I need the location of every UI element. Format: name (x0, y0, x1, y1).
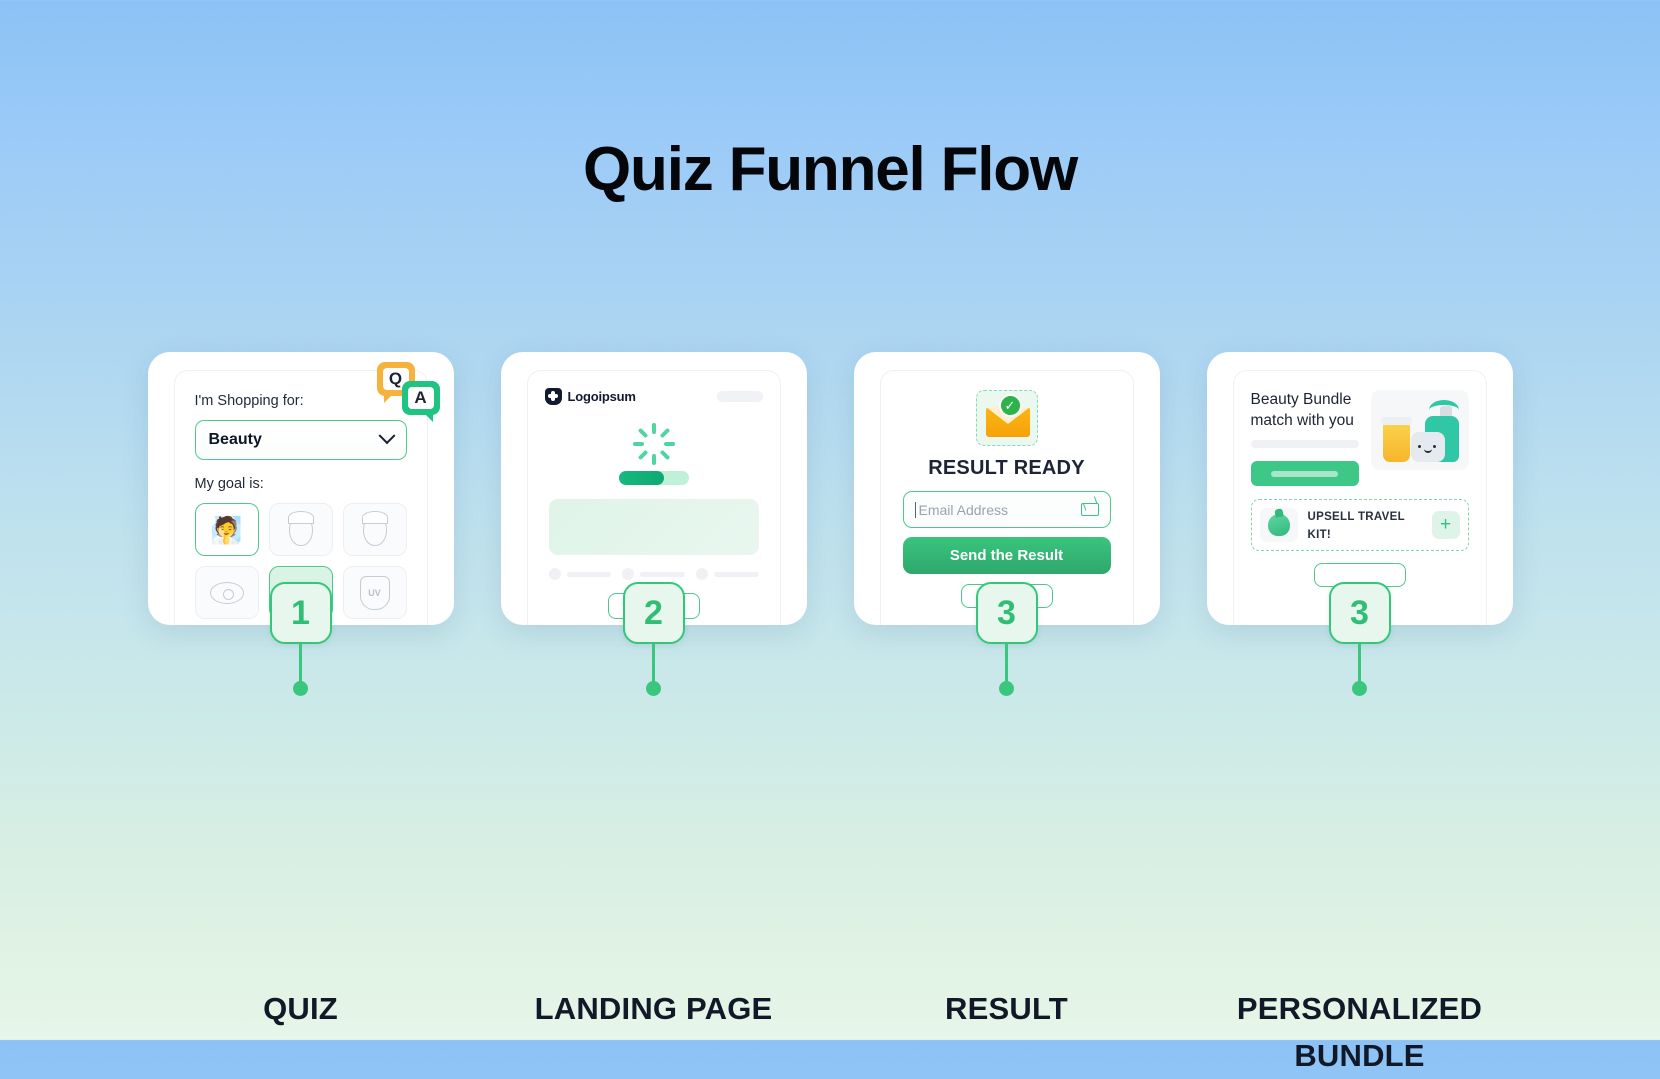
feature-rows (549, 568, 759, 580)
answer-bubble-letter: A (408, 387, 434, 409)
step-2-badge: 2 (623, 582, 685, 644)
jar-face-icon (1418, 445, 1437, 453)
answer-bubble: A (402, 381, 440, 415)
bundle-subtitle-placeholder (1251, 440, 1359, 448)
bundle-product-image (1371, 390, 1469, 470)
connector-stem (1358, 644, 1361, 682)
bundle-heading: Beauty Bundle match with you (1251, 390, 1359, 431)
page-title: Quiz Funnel Flow (0, 134, 1660, 205)
step-landing-page: Logoipsum (501, 352, 807, 1079)
feature-row (549, 568, 612, 580)
step-2-label: LANDING PAGE (501, 985, 807, 1032)
chevron-down-icon (378, 427, 395, 444)
goal-tile-face-massage[interactable] (269, 503, 333, 556)
step-result: ✓ RESULT READY Email Address Send the Re… (854, 352, 1160, 1079)
feature-row (622, 568, 685, 580)
envelope-icon: ✓ (986, 407, 1030, 437)
step-2-badge-group: 2 (501, 582, 807, 696)
connector-stem (652, 644, 655, 682)
goal-tile-face-mask[interactable] (343, 503, 407, 556)
progress-bar (619, 471, 689, 485)
bundle-cta-button[interactable] (1251, 461, 1359, 486)
feature-row (696, 568, 759, 580)
face-mask-icon (359, 512, 391, 548)
bullet-dot-icon (696, 568, 708, 580)
goal-label: My goal is: (195, 476, 407, 492)
step-3-badge-group: 3 (854, 582, 1160, 696)
connector-dot (646, 681, 661, 696)
mail-icon (1081, 503, 1099, 516)
add-upsell-button[interactable]: + (1432, 511, 1460, 539)
step-4-badge: 3 (1329, 582, 1391, 644)
connector-stem (1005, 644, 1008, 682)
check-circle-icon: ✓ (999, 394, 1022, 417)
step-quiz: Q A I'm Shopping for: Beauty My goal is: (148, 352, 454, 1079)
category-select[interactable]: Beauty (195, 420, 407, 460)
step-1-badge: 1 (270, 582, 332, 644)
header-placeholder-pill (717, 391, 763, 402)
step-3-label: RESULT (854, 985, 1160, 1032)
connector-dot (1352, 681, 1367, 696)
loading-spark-icon (633, 423, 675, 465)
logo-shield-icon (545, 388, 562, 405)
email-envelope-frame: ✓ (976, 390, 1038, 446)
step-1-label: QUIZ (148, 985, 454, 1032)
travel-pouch-icon (1260, 508, 1298, 542)
funnel-flow: Q A I'm Shopping for: Beauty My goal is: (0, 352, 1660, 1079)
category-select-value: Beauty (209, 431, 262, 449)
send-result-button[interactable]: Send the Result (903, 537, 1111, 574)
logo: Logoipsum (545, 388, 636, 405)
goal-tile-glowing-face[interactable]: 🧖 (195, 503, 259, 556)
serum-glass-icon (1383, 422, 1410, 462)
connector-dot (999, 681, 1014, 696)
connector-dot (293, 681, 308, 696)
step-4-label: PERSONALIZED BUNDLE (1220, 985, 1500, 1079)
connector-stem (299, 644, 302, 682)
step-4-badge-group: 3 (1207, 582, 1513, 696)
hero-placeholder (549, 499, 759, 555)
qa-bubbles: Q A (372, 362, 444, 422)
upsell-title: UPSELL TRAVEL KIT! (1308, 511, 1405, 541)
step-personalized-bundle: Beauty Bundle match with you (1207, 352, 1513, 1079)
progress-fill (619, 471, 664, 485)
face-massage-icon (285, 512, 317, 548)
bullet-dot-icon (622, 568, 634, 580)
upsell-row[interactable]: UPSELL TRAVEL KIT! + (1251, 499, 1469, 551)
step-3-badge: 3 (976, 582, 1038, 644)
step-1-badge-group: 1 (148, 582, 454, 696)
bullet-dot-icon (549, 568, 561, 580)
glowing-face-icon: 🧖 (210, 517, 242, 543)
email-field[interactable]: Email Address (903, 491, 1111, 528)
result-heading: RESULT READY (903, 457, 1111, 480)
logo-text: Logoipsum (568, 389, 636, 404)
email-placeholder: Email Address (915, 502, 1008, 518)
